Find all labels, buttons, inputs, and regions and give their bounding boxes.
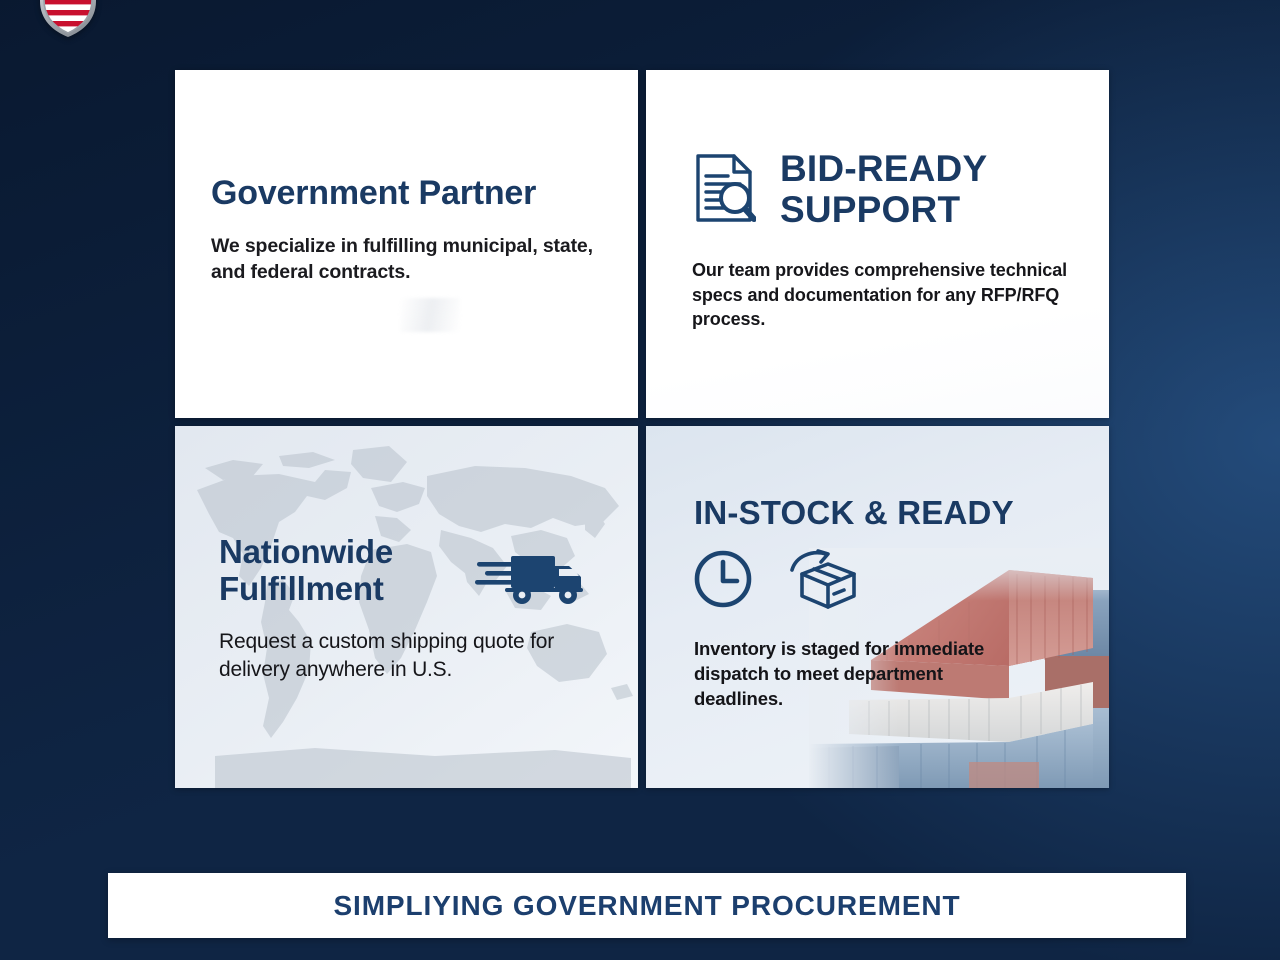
card-nationwide-content: Nationwide Fulfillment Request a custom …	[219, 534, 614, 684]
card-in-stock-icon-row	[692, 548, 862, 610]
bottom-banner-text: SIMPLIYING GOVERNMENT PROCUREMENT	[333, 890, 960, 922]
card-government-partner-body: We specialize in fulfilling municipal, s…	[211, 233, 608, 285]
card-bid-ready-header: BID-READY SUPPORT	[694, 148, 987, 230]
document-magnifier-icon	[694, 152, 756, 224]
box-return-arrow-icon	[786, 548, 862, 610]
card-bid-ready-support[interactable]: BID-READY SUPPORT Our team provides comp…	[646, 70, 1109, 418]
card-nationwide-title: Nationwide Fulfillment	[219, 534, 614, 607]
card-government-partner-title: Government Partner	[211, 174, 608, 212]
card-nationwide-fulfillment[interactable]: Nationwide Fulfillment Request a custom …	[175, 426, 638, 788]
faint-watermark-artifact	[400, 298, 460, 332]
bottom-banner[interactable]: SIMPLIYING GOVERNMENT PROCUREMENT	[108, 873, 1186, 938]
feature-card-grid: Government Partner We specialize in fulf…	[175, 70, 1107, 788]
clock-icon	[692, 548, 754, 610]
card-government-partner[interactable]: Government Partner We specialize in fulf…	[175, 70, 638, 418]
card-in-stock-title: IN-STOCK & READY	[694, 494, 1014, 532]
us-flag-shield-icon	[36, 0, 100, 38]
card-in-stock-body: Inventory is staged for immediate dispat…	[694, 636, 1024, 711]
card-nationwide-body: Request a custom shipping quote for deli…	[219, 628, 614, 684]
card-bid-ready-title: BID-READY SUPPORT	[780, 148, 987, 230]
card-government-partner-content: Government Partner We specialize in fulf…	[211, 174, 608, 285]
card-in-stock-ready[interactable]: IN-STOCK & READY	[646, 426, 1109, 788]
slide-canvas: Government Partner We specialize in fulf…	[0, 0, 1280, 960]
card-bid-ready-body: Our team provides comprehensive technica…	[692, 258, 1075, 332]
